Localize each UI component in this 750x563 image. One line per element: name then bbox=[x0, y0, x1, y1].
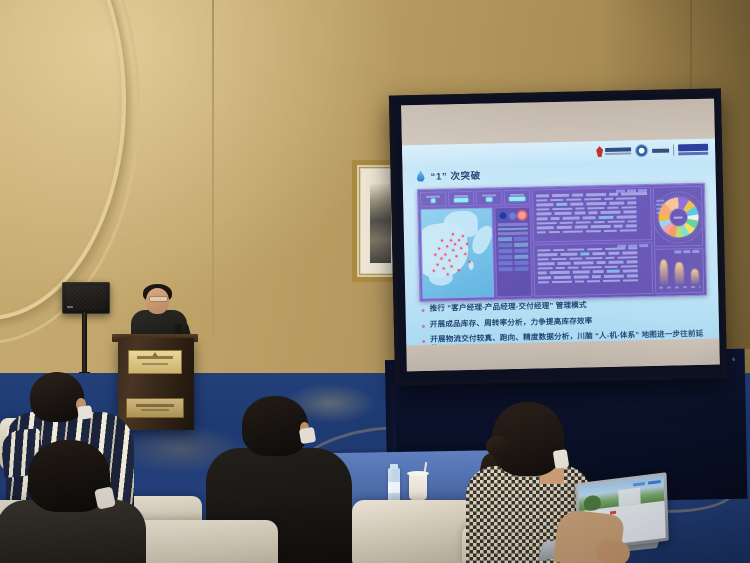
bi-dashboard-screenshot bbox=[417, 183, 707, 302]
table-header-cell bbox=[638, 189, 647, 192]
pa-speaker-icon bbox=[62, 282, 110, 314]
logo-text-primary bbox=[605, 147, 631, 152]
projection-dead-band-top bbox=[401, 99, 715, 146]
spike-bar bbox=[660, 260, 669, 285]
table-header-cell bbox=[627, 189, 636, 192]
slide-title-row: “1” 次突破 bbox=[416, 168, 480, 183]
kpi-row bbox=[420, 190, 530, 207]
side-chip bbox=[515, 260, 529, 264]
map-marker bbox=[440, 258, 442, 260]
kpi-card bbox=[504, 190, 530, 206]
bullet-text: 开展成品库存、周转率分析，力争提高库存效率 bbox=[430, 317, 593, 329]
hair-tie bbox=[486, 436, 508, 456]
kpi-value bbox=[431, 199, 435, 203]
map-marker bbox=[433, 270, 435, 272]
chair bbox=[128, 520, 278, 563]
side-chip bbox=[498, 237, 512, 241]
slide-logo-row bbox=[596, 142, 708, 159]
gauge-blue-icon bbox=[497, 210, 508, 221]
logo-esensoft-primary bbox=[678, 144, 708, 152]
side-column bbox=[498, 237, 513, 273]
side-row bbox=[498, 232, 528, 235]
map-marker bbox=[466, 243, 468, 245]
water-drop-icon bbox=[417, 170, 425, 181]
table-row bbox=[538, 279, 649, 284]
gauge-mid-icon bbox=[508, 211, 516, 219]
dashboard-side-panel bbox=[494, 207, 532, 298]
bottle-cap bbox=[390, 464, 398, 469]
side-column bbox=[514, 236, 529, 272]
side-chip bbox=[498, 254, 512, 258]
kpi-card bbox=[420, 191, 446, 207]
map-marker bbox=[437, 264, 439, 266]
projection-screen: “1” 次突破 bbox=[389, 88, 727, 385]
face-mask-icon bbox=[553, 449, 570, 469]
page-title: “1” 次突破 bbox=[430, 168, 480, 183]
map-marker bbox=[452, 233, 454, 235]
table-header-cell bbox=[639, 244, 648, 247]
category-donut-chart bbox=[653, 186, 703, 247]
bullet-dot-icon bbox=[422, 325, 425, 328]
chart-x-axis bbox=[659, 286, 700, 289]
china-distribution-map bbox=[420, 207, 494, 299]
presentation-slide: “1” 次突破 bbox=[402, 139, 719, 346]
dashboard-center-column bbox=[532, 187, 653, 297]
list-item: 开展成品库存、周转率分析，力争提高库存效率 bbox=[422, 314, 707, 329]
side-row bbox=[498, 223, 528, 226]
plaque-line-1 bbox=[137, 356, 173, 359]
side-row bbox=[498, 227, 528, 230]
map-marker bbox=[448, 259, 450, 261]
side-chip bbox=[514, 248, 528, 252]
map-marker bbox=[438, 248, 440, 250]
audience-head bbox=[242, 396, 308, 456]
gauge-pink-icon bbox=[516, 210, 527, 221]
lectern-plaque-lower bbox=[126, 398, 184, 418]
lectern-plaque-upper bbox=[128, 350, 182, 374]
logo-text-secondary bbox=[605, 152, 631, 155]
map-marker bbox=[454, 243, 456, 245]
bottle-label bbox=[388, 482, 400, 493]
video-foliage bbox=[584, 495, 602, 512]
kpi-value bbox=[486, 197, 492, 201]
map-marker bbox=[469, 261, 471, 263]
kpi-label bbox=[426, 196, 440, 198]
kpi-label bbox=[454, 195, 468, 197]
audience-head bbox=[30, 372, 84, 422]
side-chip bbox=[498, 243, 512, 247]
dashboard-right-column bbox=[653, 186, 704, 294]
table-header-cell bbox=[628, 244, 637, 247]
wall-seam bbox=[212, 0, 214, 338]
plaque-line-1 bbox=[136, 404, 174, 407]
map-marker bbox=[443, 267, 445, 269]
side-chip bbox=[514, 242, 528, 246]
kpi-card bbox=[448, 191, 474, 207]
logo-esensoft bbox=[678, 144, 708, 156]
side-columns bbox=[498, 236, 529, 273]
map-marker bbox=[458, 269, 460, 271]
face-mask-icon bbox=[77, 405, 93, 420]
map-marker bbox=[444, 253, 446, 255]
gauge-row bbox=[497, 210, 527, 222]
video-building bbox=[618, 487, 641, 506]
chart-legend bbox=[674, 250, 699, 253]
map-and-sidepanel-row bbox=[420, 207, 532, 299]
face-mask-icon bbox=[299, 427, 316, 444]
data-table-upper bbox=[532, 187, 652, 242]
map-marker bbox=[447, 273, 449, 275]
logo-anniversary-text bbox=[652, 148, 669, 152]
kpi-value bbox=[509, 197, 526, 201]
spike-bar bbox=[690, 269, 699, 284]
kpi-card bbox=[476, 190, 502, 206]
logo-circle-icon bbox=[635, 144, 648, 157]
artwork-image bbox=[370, 184, 391, 263]
map-marker bbox=[462, 235, 464, 237]
table-row bbox=[537, 229, 648, 234]
map-marker bbox=[455, 255, 457, 257]
face-mask-icon bbox=[94, 486, 116, 509]
data-table-lower bbox=[533, 241, 653, 296]
table-header-cell bbox=[617, 244, 626, 247]
map-marker bbox=[450, 239, 452, 241]
side-chip bbox=[499, 266, 513, 270]
dashboard-left-column bbox=[420, 190, 532, 299]
presenter-glasses-icon bbox=[150, 297, 167, 301]
side-chip bbox=[514, 236, 528, 240]
logo-divider bbox=[673, 144, 674, 155]
table-header-cell bbox=[616, 190, 625, 193]
map-marker bbox=[434, 254, 436, 256]
speaker-badge bbox=[67, 306, 73, 308]
screen-surface: “1” 次突破 bbox=[401, 99, 720, 372]
logo-esensoft-secondary bbox=[678, 152, 708, 156]
side-chip bbox=[498, 249, 512, 253]
kpi-label bbox=[482, 194, 496, 196]
paper-cup bbox=[409, 474, 427, 500]
bullet-text: 推行 “客户经理-产品经理-交付经理” 管理模式 bbox=[429, 301, 586, 313]
map-marker bbox=[446, 245, 448, 247]
spike-bar bbox=[675, 262, 684, 285]
slide-bullet-list: 推行 “客户经理-产品经理-交付经理” 管理模式 开展成品库存、周转率分析，力争… bbox=[421, 299, 707, 346]
spike-series bbox=[659, 256, 699, 285]
map-marker bbox=[460, 247, 462, 249]
bullet-dot-icon bbox=[422, 340, 425, 343]
map-marker bbox=[452, 249, 454, 251]
side-chip bbox=[515, 266, 529, 270]
map-marker bbox=[451, 265, 453, 267]
map-marker bbox=[441, 240, 443, 242]
logo-jianlong-group bbox=[596, 145, 631, 157]
kpi-value bbox=[454, 198, 469, 202]
microphone-icon bbox=[175, 324, 182, 333]
conference-room-photo: “1” 次突破 bbox=[0, 0, 750, 563]
map-marker bbox=[458, 239, 460, 241]
plaque-line-2 bbox=[141, 409, 169, 411]
side-chip bbox=[499, 260, 513, 264]
logo-mark-icon bbox=[596, 146, 603, 157]
presenter-head bbox=[146, 288, 169, 314]
legend-entry bbox=[692, 250, 699, 253]
side-chip bbox=[514, 254, 528, 258]
trend-spike-chart bbox=[654, 248, 704, 294]
cup-rim bbox=[407, 471, 429, 476]
legend-entry bbox=[674, 250, 681, 253]
map-marker bbox=[464, 253, 466, 255]
bullet-dot-icon bbox=[422, 309, 425, 312]
plaque-line-2 bbox=[142, 363, 168, 365]
legend-entry bbox=[683, 250, 690, 253]
kpi-label bbox=[510, 194, 524, 196]
